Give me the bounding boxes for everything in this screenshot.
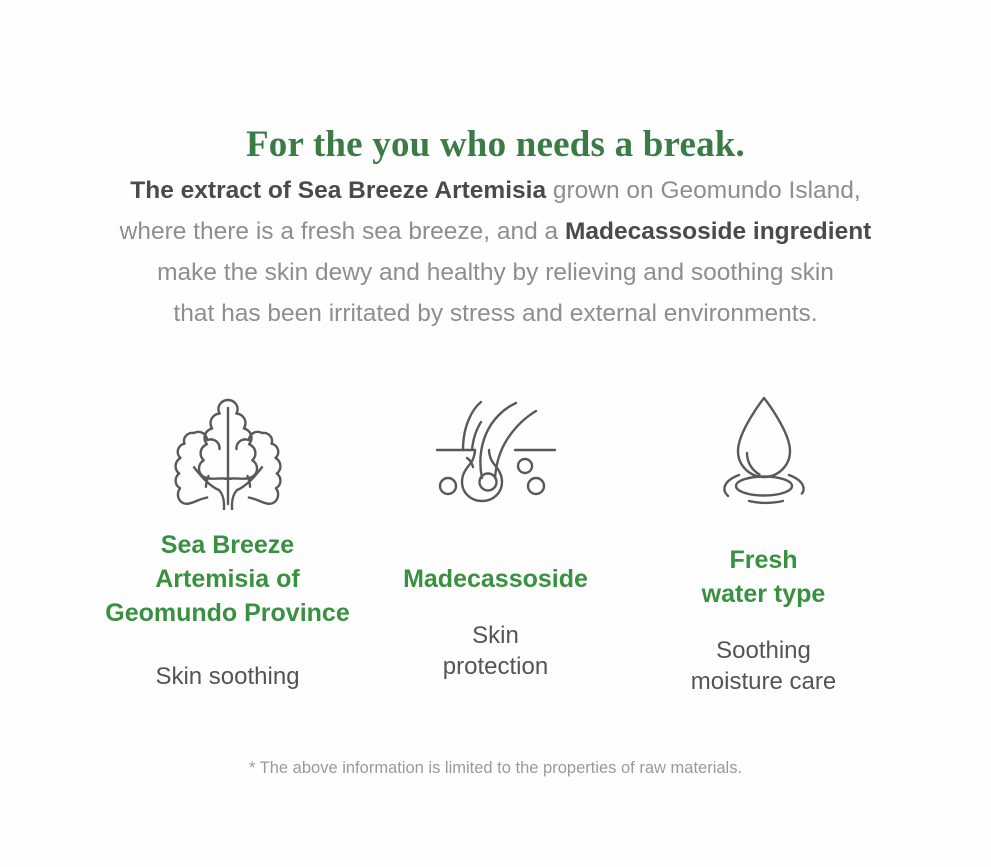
feature-item-sea-breeze-artemisia: Sea Breeze Artemisia of Geomundo Provinc… <box>94 392 362 692</box>
hair-follicle-skin-icon <box>431 392 561 510</box>
intro-text-3: make the skin dewy and healthy by reliev… <box>157 259 834 286</box>
intro-text-4: that has been irritated by stress and ex… <box>173 300 817 327</box>
feature-subtitle: Soothing moisture care <box>691 635 836 697</box>
feature-item-fresh-water-type: Fresh water type Soothing moisture care <box>630 392 898 697</box>
intro-line-2: where there is a fresh sea breeze, and a… <box>66 211 926 252</box>
intro-emphasis-1: The extract of Sea Breeze Artemisia <box>130 177 546 204</box>
page-title: For the you who needs a break. <box>0 123 991 167</box>
promo-panel: For the you who needs a break. The extra… <box>0 0 991 867</box>
intro-paragraph: The extract of Sea Breeze Artemisia grow… <box>66 170 926 334</box>
intro-line-1: The extract of Sea Breeze Artemisia grow… <box>66 170 926 211</box>
footnote: * The above information is limited to th… <box>0 757 991 779</box>
intro-line-4: that has been irritated by stress and ex… <box>66 293 926 334</box>
intro-emphasis-2: Madecassoside ingredient <box>565 218 871 245</box>
feature-list: Sea Breeze Artemisia of Geomundo Provinc… <box>0 392 991 697</box>
feature-subtitle: Skin soothing <box>155 661 299 692</box>
feature-title: Madecassoside <box>403 562 588 596</box>
intro-text-1: grown on Geomundo Island, <box>546 177 861 204</box>
feature-item-madecassoside: Madecassoside Skin protection <box>362 392 630 682</box>
feature-title: Sea Breeze Artemisia of Geomundo Provinc… <box>105 528 349 630</box>
feature-subtitle: Skin protection <box>443 620 548 682</box>
intro-line-3: make the skin dewy and healthy by reliev… <box>66 252 926 293</box>
feature-title: Fresh water type <box>702 543 826 611</box>
herb-leaves-icon <box>166 392 290 510</box>
intro-text-2: where there is a fresh sea breeze, and a <box>120 218 565 245</box>
water-droplet-icon <box>705 392 823 510</box>
